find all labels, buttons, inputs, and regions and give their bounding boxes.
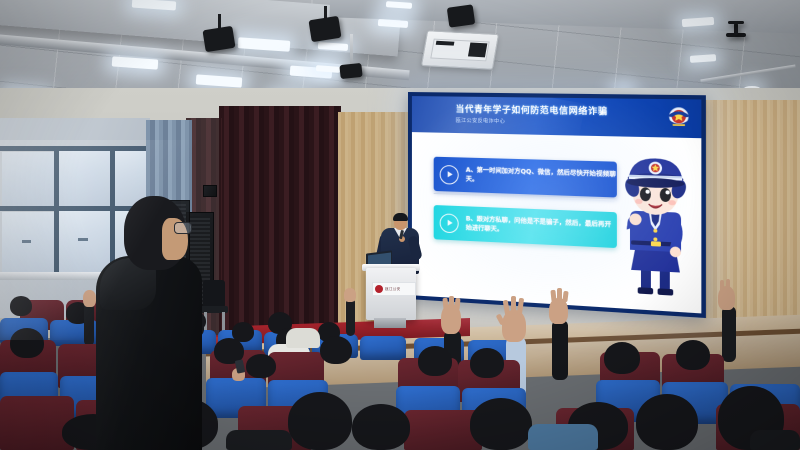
slide-option-a: A、第一时间加对方QQ、微信，然后尽快开始视频聊天。 — [434, 157, 617, 198]
audience-head — [470, 348, 504, 378]
audience-head-front — [288, 392, 352, 450]
window-glass — [2, 152, 54, 208]
ceiling-mount-top — [728, 21, 744, 24]
raised-hand — [344, 288, 356, 302]
raised-finger — [557, 288, 562, 301]
raised-arm — [346, 298, 355, 336]
audience-head — [246, 354, 276, 378]
podium-emblem-icon — [375, 285, 383, 293]
raised-arm — [722, 306, 736, 362]
spotlight — [202, 26, 235, 52]
projection-screen: 当代青年学子如何防范电信网络诈骗 瓯江公安反电诈中心 A、第一时间加对方QQ、微… — [408, 92, 706, 318]
seat-back-front — [0, 396, 74, 450]
stage-chair-leg — [222, 312, 225, 332]
glasses-icon — [174, 222, 192, 234]
police-emblem-icon — [663, 102, 694, 132]
presentation-slide: 当代青年学子如何防范电信网络诈骗 瓯江公安反电诈中心 A、第一时间加对方QQ、微… — [412, 96, 701, 313]
audience-head — [418, 346, 452, 376]
audience-head-front — [636, 394, 698, 450]
podium-logo-plate: 瓯江公安 — [372, 282, 416, 296]
window-mullion-vertical — [54, 146, 59, 278]
raised-hand — [83, 290, 96, 307]
standing-student-foreground — [96, 196, 208, 450]
audience-head-front — [470, 398, 532, 450]
audience-torso — [528, 424, 598, 450]
auditorium-photo: 当代青年学子如何防范电信网络诈骗 瓯江公安反电诈中心 A、第一时间加对方QQ、微… — [0, 0, 800, 450]
spotlight — [447, 4, 476, 27]
podium-base — [374, 318, 406, 328]
arrow-right-icon — [440, 164, 459, 184]
audience-head-front — [352, 404, 410, 450]
raised-finger — [720, 280, 724, 291]
raised-finger — [449, 296, 454, 309]
arrow-right-icon — [440, 213, 459, 233]
window-mullion-top — [0, 146, 150, 151]
audience-head — [10, 296, 32, 316]
seat-row-far — [360, 336, 406, 360]
raised-finger — [511, 296, 516, 315]
raised-arm — [552, 320, 568, 380]
raised-arm — [84, 302, 94, 346]
audience-head — [676, 340, 710, 370]
audience-head — [604, 342, 640, 374]
ceiling-ac-unit — [421, 30, 499, 69]
podium-label: 瓯江公安 — [385, 287, 401, 292]
stage-curtain — [219, 106, 341, 336]
police-mascot-icon — [615, 149, 697, 301]
window-latch — [78, 238, 88, 241]
audience-head — [320, 336, 352, 364]
slide-title: 当代青年学子如何防范电信网络诈骗 — [456, 103, 608, 118]
audience-torso-white — [286, 328, 320, 348]
slide-option-b: B、跟对方私聊，问他是不是骗子，然后，最后再开始进行聊天。 — [434, 205, 617, 248]
raised-finger — [726, 279, 730, 291]
audience-torso — [750, 430, 800, 450]
spotlight — [308, 16, 341, 42]
slide-option-b-text: B、跟对方私聊，问他是不是骗子，然后，最后再开始进行聊天。 — [466, 214, 617, 239]
window-latch — [22, 240, 31, 243]
window-glass — [2, 212, 54, 274]
projector — [339, 63, 362, 79]
wood-wall-panel-right — [690, 100, 800, 338]
ceiling-mount-pole — [734, 23, 738, 35]
audience-torso — [226, 430, 292, 450]
slide-option-a-text: A、第一时间加对方QQ、微信，然后尽快开始视频聊天。 — [466, 166, 617, 189]
ac-vent — [468, 43, 487, 58]
audience-head — [10, 328, 44, 358]
presenter-hair — [393, 213, 408, 221]
slide-subtitle: 瓯江公安反电诈中心 — [456, 117, 505, 125]
